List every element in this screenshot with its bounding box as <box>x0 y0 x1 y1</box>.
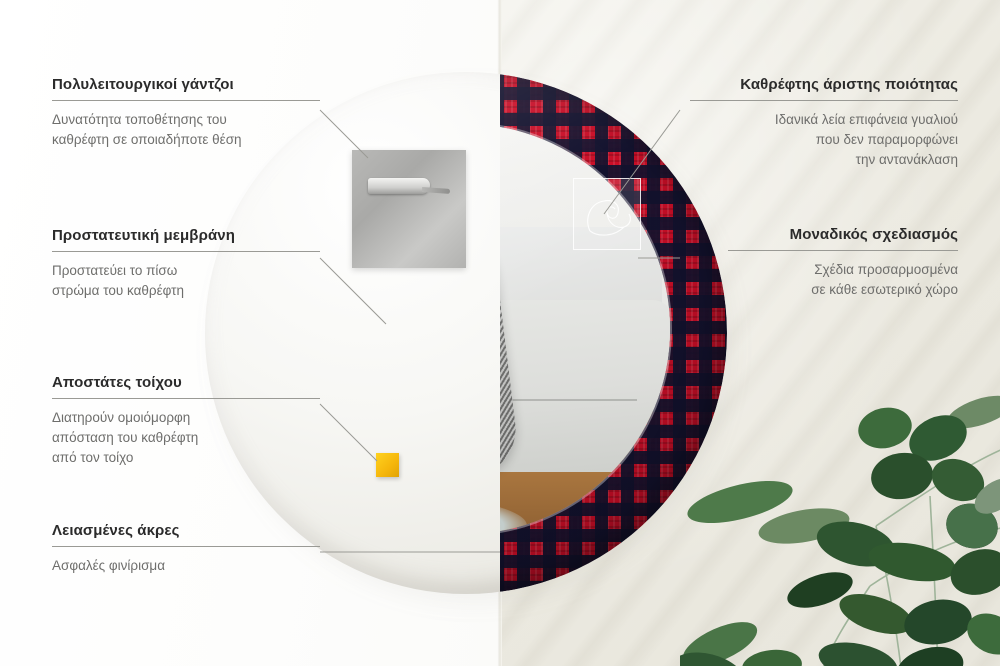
callout-glass-quality-body: Ιδανικά λεία επιφάνεια γυαλιού που δεν π… <box>690 110 958 170</box>
callout-edges: Λειασμένες άκρες Ασφαλές φινίρισμα <box>52 522 320 576</box>
callout-edges-rule <box>52 546 320 547</box>
callout-spacers-body: Διατηρούν ομοιόμορφη απόσταση του καθρέφ… <box>52 408 320 468</box>
callout-hooks: Πολυλειτουργικοί γάντζοι Δυνατότητα τοπο… <box>52 76 320 150</box>
decorative-plant <box>680 376 1000 666</box>
infographic-stage: Πολυλειτουργικοί γάντζοι Δυνατότητα τοπο… <box>0 0 1000 666</box>
callout-membrane-title: Προστατευτική μεμβράνη <box>52 227 320 244</box>
callout-glass-quality-title: Καθρέφτης άριστης ποιότητας <box>690 76 958 93</box>
callout-hooks-title: Πολυλειτουργικοί γάντζοι <box>52 76 320 93</box>
callout-hooks-rule <box>52 100 320 101</box>
callout-hooks-body: Δυνατότητα τοποθέτησης του καθρέφτη σε ο… <box>52 110 320 150</box>
callout-spacers-rule <box>52 398 320 399</box>
callout-glass-quality-rule <box>690 100 958 101</box>
callout-unique-design-rule <box>728 250 958 251</box>
callout-membrane-rule <box>52 251 320 252</box>
connector-spacers <box>320 404 377 461</box>
callout-unique-design-body: Σχέδια προσαρμοσμένα σε κάθε εσωτερικό χ… <box>728 260 958 300</box>
callout-unique-design: Μοναδικός σχεδιασμός Σχέδια προσαρμοσμέν… <box>728 226 958 300</box>
callout-glass-quality: Καθρέφτης άριστης ποιότητας Ιδανικά λεία… <box>690 76 958 170</box>
callout-membrane-body: Προστατεύει το πίσω στρώμα του καθρέφτη <box>52 261 320 301</box>
connector-membrane <box>320 258 386 324</box>
callout-edges-body: Ασφαλές φινίρισμα <box>52 556 320 576</box>
callout-edges-title: Λειασμένες άκρες <box>52 522 320 539</box>
callout-membrane: Προστατευτική μεμβράνη Προστατεύει το πί… <box>52 227 320 301</box>
callout-spacers-title: Αποστάτες τοίχου <box>52 374 320 391</box>
connector-hooks <box>320 110 368 158</box>
callout-unique-design-title: Μοναδικός σχεδιασμός <box>728 226 958 243</box>
callout-spacers: Αποστάτες τοίχου Διατηρούν ομοιόμορφη απ… <box>52 374 320 468</box>
connector-glass-quality <box>604 110 680 214</box>
